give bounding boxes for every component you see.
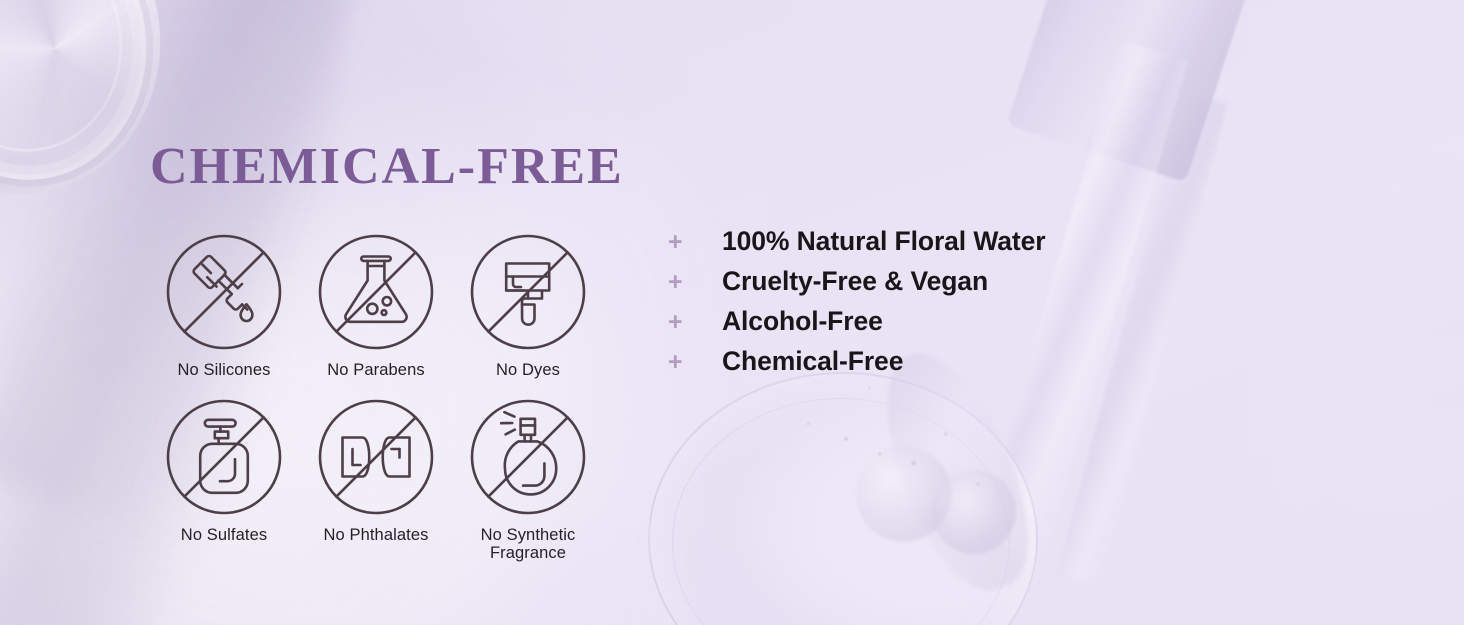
claim-label: No Sulfates xyxy=(181,526,267,544)
benefit-item: + 100% Natural Floral Water xyxy=(668,228,1045,268)
no-synthetic-fragrance-perfume-icon xyxy=(468,397,588,517)
plus-icon: + xyxy=(668,310,722,335)
claim-item-no-silicones: No Silicones xyxy=(148,232,300,397)
claim-label: No Silicones xyxy=(178,361,271,379)
benefit-label: 100% Natural Floral Water xyxy=(722,228,1045,255)
claims-icon-grid: No Silicones No Parabens xyxy=(148,232,608,572)
claim-item-no-dyes: No Dyes xyxy=(452,232,604,397)
claim-label: No Parabens xyxy=(327,361,424,379)
benefit-label: Alcohol-Free xyxy=(722,308,883,335)
claim-label: No Phthalates xyxy=(324,526,429,544)
benefits-list: + 100% Natural Floral Water + Cruelty-Fr… xyxy=(668,228,1045,388)
benefit-label: Chemical-Free xyxy=(722,348,903,375)
plus-icon: + xyxy=(668,230,722,255)
no-silicones-dropper-icon xyxy=(164,232,284,352)
benefit-item: + Chemical-Free xyxy=(668,348,1045,388)
no-dyes-paint-roller-icon xyxy=(468,232,588,352)
claim-label: No Synthetic Fragrance xyxy=(481,526,576,563)
plus-icon: + xyxy=(668,270,722,295)
claim-label: No Dyes xyxy=(496,361,560,379)
benefit-item: + Cruelty-Free & Vegan xyxy=(668,268,1045,308)
no-sulfates-pump-bottle-icon xyxy=(164,397,284,517)
chemical-free-banner: CHEMICAL-FREE xyxy=(0,0,1464,625)
benefit-item: + Alcohol-Free xyxy=(668,308,1045,348)
claim-item-no-phthalates: No Phthalates xyxy=(300,397,452,572)
claim-item-no-sulfates: No Sulfates xyxy=(148,397,300,572)
plus-icon: + xyxy=(668,350,722,375)
claim-item-no-synthetic-fragrance: No Synthetic Fragrance xyxy=(452,397,604,572)
claim-item-no-parabens: No Parabens xyxy=(300,232,452,397)
no-parabens-flask-icon xyxy=(316,232,436,352)
banner-content: CHEMICAL-FREE xyxy=(0,0,1464,625)
benefit-label: Cruelty-Free & Vegan xyxy=(722,268,988,295)
page-title: CHEMICAL-FREE xyxy=(150,141,624,193)
no-phthalates-molecule-icon xyxy=(316,397,436,517)
